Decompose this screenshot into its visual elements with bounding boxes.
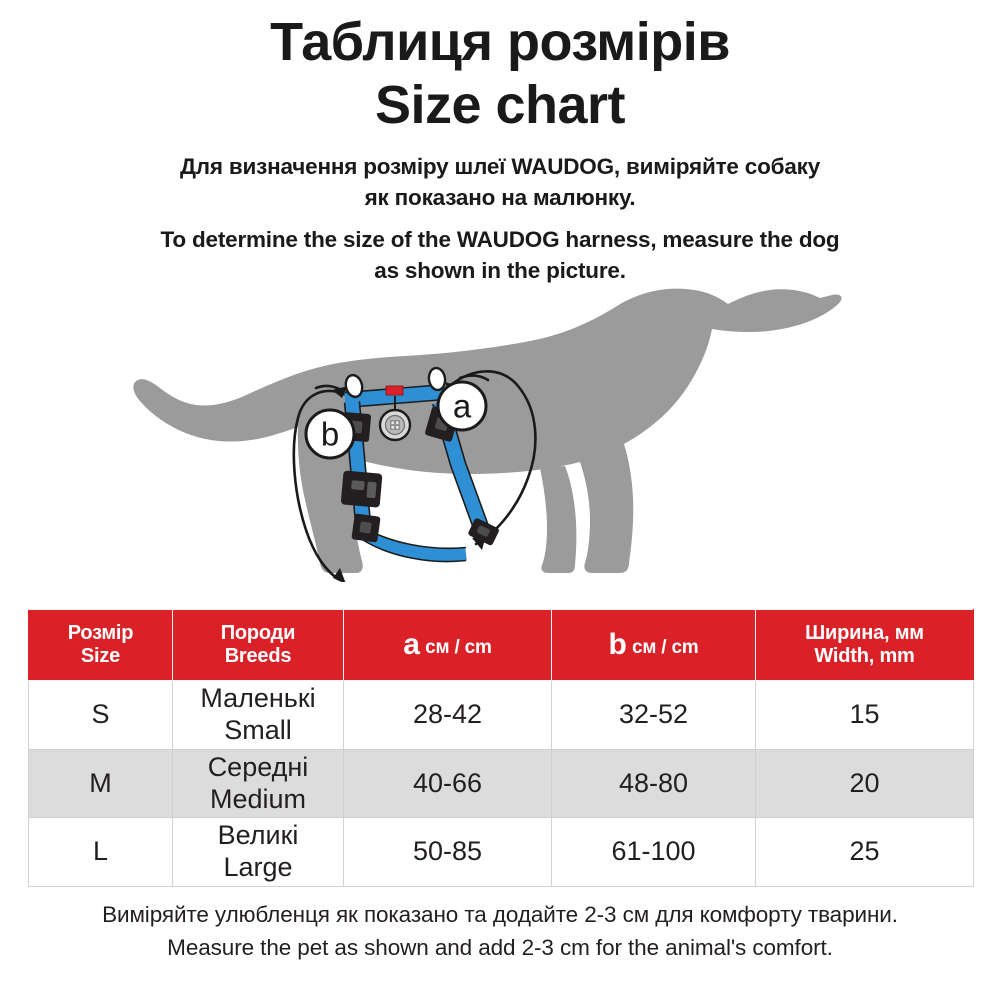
column-header-size: Розмір Size: [29, 610, 173, 681]
cell-b: 48-80: [552, 749, 756, 818]
column-header-a-unit: см / cm: [425, 637, 492, 658]
column-header-a: a см / cm: [344, 610, 552, 681]
page-title-ua: Таблиця розмірів: [0, 14, 1000, 71]
label-circle-a: a: [438, 382, 486, 430]
table-row: M Середні Medium 40-66 48-80 20: [29, 749, 974, 818]
cell-breeds-ua: Маленькі: [179, 683, 337, 715]
column-header-a-symbol: a: [403, 628, 420, 661]
column-header-breeds: Породи Breeds: [173, 610, 344, 681]
label-circle-a-text: a: [453, 388, 472, 425]
column-header-b-unit: см / cm: [632, 637, 699, 658]
footer-note-ua: Виміряйте улюбленця як показано та додай…: [0, 898, 1000, 931]
column-header-width: Ширина, мм Width, mm: [756, 610, 974, 681]
cell-breeds-en: Medium: [179, 784, 337, 816]
cell-width: 15: [756, 681, 974, 750]
label-circle-b-text: b: [321, 416, 339, 453]
column-header-breeds-ua: Породи: [221, 622, 296, 644]
cell-width: 20: [756, 749, 974, 818]
subtitle-ua-line1: Для визначення розміру шлеї WAUDOG, вимі…: [0, 152, 1000, 182]
cell-a: 28-42: [344, 681, 552, 750]
footer-note-en: Measure the pet as shown and add 2-3 cm …: [0, 931, 1000, 964]
cell-a: 50-85: [344, 818, 552, 887]
column-header-breeds-en: Breeds: [225, 645, 292, 667]
cell-width: 25: [756, 818, 974, 887]
cell-a: 40-66: [344, 749, 552, 818]
column-header-b: b см / cm: [552, 610, 756, 681]
cell-b: 61-100: [552, 818, 756, 887]
cell-size: S: [29, 681, 173, 750]
size-chart-table-container: Розмір Size Породи Breeds a см / cm b см…: [28, 609, 973, 887]
subtitle-ua-group: Для визначення розміру шлеї WAUDOG, вимі…: [0, 152, 1000, 213]
page-title-en: Size chart: [0, 77, 1000, 134]
cell-breeds: Середні Medium: [173, 749, 344, 818]
label-circle-b: b: [306, 410, 354, 458]
size-chart-table: Розмір Size Породи Breeds a см / cm b см…: [28, 609, 974, 887]
column-header-size-en: Size: [81, 645, 120, 667]
column-header-size-ua: Розмір: [68, 622, 134, 644]
page-header: Таблиця розмірів Size chart Для визначен…: [0, 0, 1000, 286]
subtitle-ua-line2: як показано на малюнку.: [0, 183, 1000, 213]
column-header-width-ua: Ширина, мм: [805, 622, 924, 644]
cell-breeds: Великі Large: [173, 818, 344, 887]
table-header-row: Розмір Size Породи Breeds a см / cm b см…: [29, 610, 974, 681]
subtitle-en-line1: To determine the size of the WAUDOG harn…: [0, 225, 1000, 255]
column-header-width-en: Width, mm: [814, 645, 914, 667]
brand-label: [386, 386, 403, 395]
subtitle-en-group: To determine the size of the WAUDOG harn…: [0, 225, 1000, 286]
cell-breeds: Маленькі Small: [173, 681, 344, 750]
dog-harness-illustration: b a: [0, 282, 1000, 582]
table-row: S Маленькі Small 28-42 32-52 15: [29, 681, 974, 750]
cell-b: 32-52: [552, 681, 756, 750]
cell-size: L: [29, 818, 173, 887]
cell-breeds-ua: Великі: [179, 820, 337, 852]
footer-note: Виміряйте улюбленця як показано та додай…: [0, 898, 1000, 965]
cell-breeds-en: Small: [179, 715, 337, 747]
cell-breeds-en: Large: [179, 852, 337, 884]
table-row: L Великі Large 50-85 61-100 25: [29, 818, 974, 887]
cell-size: M: [29, 749, 173, 818]
column-header-b-symbol: b: [608, 628, 626, 661]
dog-harness-svg: b a: [120, 282, 880, 582]
cell-breeds-ua: Середні: [179, 752, 337, 784]
